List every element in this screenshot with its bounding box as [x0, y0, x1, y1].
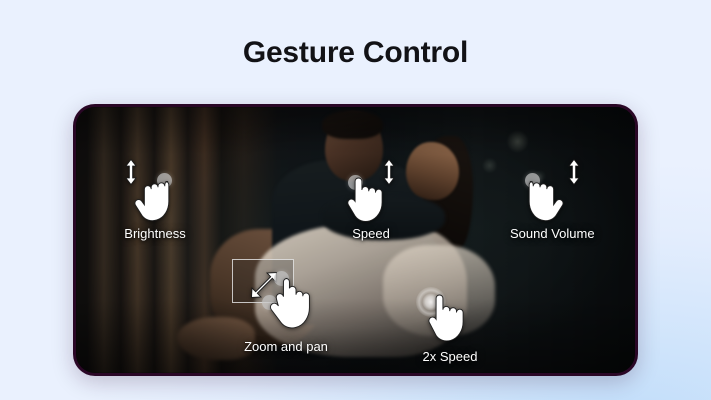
gesture-speed-art: [334, 159, 408, 225]
hand-tap-icon: [422, 291, 470, 341]
video-preview-card[interactable]: Brightness Speed: [73, 104, 638, 376]
gesture-2x-speed-art: [408, 287, 492, 345]
hand-swipe-vertical-icon: [520, 175, 566, 223]
gesture-sound-volume-label: Sound Volume: [510, 226, 595, 241]
gesture-sound-volume-art: [515, 159, 589, 225]
arrow-up-down-icon: [567, 159, 581, 185]
gesture-zoom-and-pan-label: Zoom and pan: [244, 339, 328, 354]
gesture-brightness-label: Brightness: [124, 226, 185, 241]
gesture-2x-speed[interactable]: 2x Speed: [408, 287, 492, 364]
gesture-zoom-and-pan[interactable]: Zoom and pan: [226, 257, 346, 354]
gesture-sound-volume[interactable]: Sound Volume: [510, 159, 595, 241]
gesture-zoom-and-pan-art: [226, 257, 346, 335]
hand-swipe-vertical-icon: [342, 173, 388, 223]
video-frame[interactable]: Brightness Speed: [76, 107, 635, 373]
gesture-speed[interactable]: Speed: [334, 159, 408, 241]
gesture-speed-label: Speed: [352, 226, 390, 241]
gesture-2x-speed-label: 2x Speed: [423, 349, 478, 364]
hand-pinch-two-finger-icon: [264, 275, 318, 333]
gesture-brightness[interactable]: Brightness: [118, 159, 192, 241]
gesture-brightness-art: [118, 159, 192, 225]
page-title: Gesture Control: [0, 36, 711, 70]
hand-swipe-vertical-icon: [132, 175, 178, 223]
